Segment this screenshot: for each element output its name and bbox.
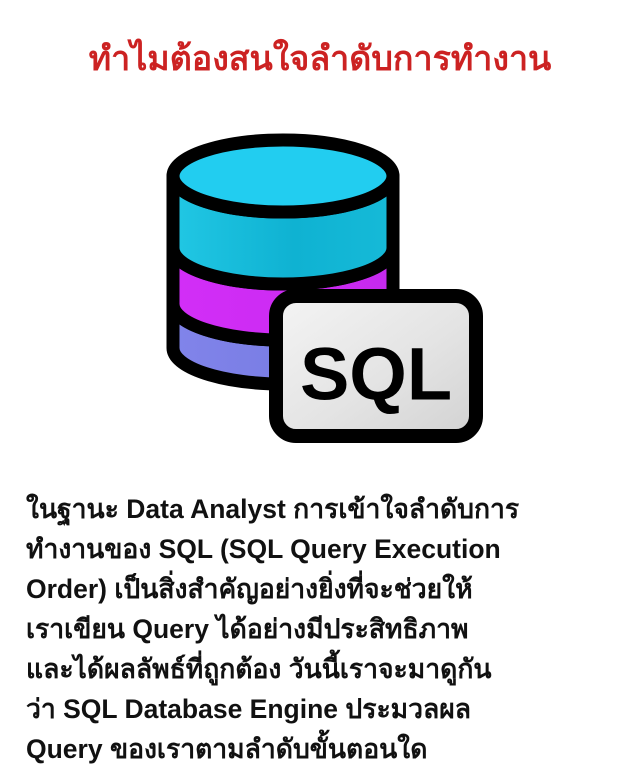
body-line: Query ของเราตามลำดับขั้นตอนใด — [26, 729, 626, 769]
sql-database-illustration: SQL — [0, 118, 640, 448]
slide-canvas: ทำไมต้องสนใจลำดับการทำงาน — [0, 0, 640, 778]
body-paragraph: ในฐานะ Data Analyst การเข้าใจลำดับการ ทำ… — [26, 489, 626, 769]
body-line: และได้ผลลัพธ์ที่ถูกต้อง วันนี้เราจะมาดูก… — [26, 649, 626, 689]
cylinder-top-ellipse — [173, 140, 393, 212]
body-line: ในฐานะ Data Analyst การเข้าใจลำดับการ — [26, 489, 626, 529]
body-line: เราเขียน Query ได้อย่างมีประสิทธิภาพ — [26, 609, 626, 649]
sql-database-icon: SQL — [155, 118, 485, 448]
page-title-text: ทำไมต้องสนใจลำดับการทำงาน — [89, 38, 552, 81]
page-title: ทำไมต้องสนใจลำดับการทำงาน — [0, 38, 640, 81]
body-line: ว่า SQL Database Engine ประมวลผล — [26, 689, 626, 729]
sql-card: SQL — [276, 296, 476, 436]
body-line: Order) เป็นสิ่งสำคัญอย่างยิ่งที่จะช่วยให… — [26, 569, 626, 609]
sql-card-label: SQL — [300, 333, 452, 416]
body-line: ทำงานของ SQL (SQL Query Execution — [26, 529, 626, 569]
